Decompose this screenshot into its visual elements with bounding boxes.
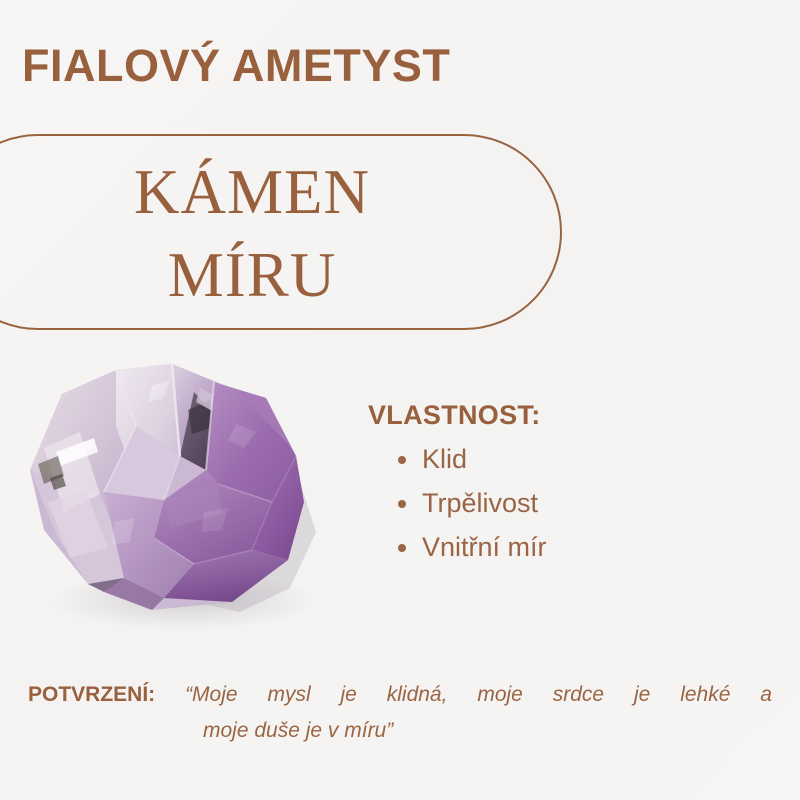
page-title: FIALOVÝ AMETYST bbox=[22, 40, 450, 92]
list-item: Trpělivost bbox=[398, 481, 748, 525]
list-item: Vnitřní mír bbox=[398, 525, 748, 569]
properties-list: Klid Trpělivost Vnitřní mír bbox=[368, 437, 748, 569]
amethyst-crystal-image bbox=[4, 352, 340, 638]
amethyst-crystal-icon bbox=[4, 352, 340, 638]
properties-section: VLASTNOST: Klid Trpělivost Vnitřní mír bbox=[368, 400, 748, 569]
stone-name-badge: KÁMEN MÍRU bbox=[0, 134, 562, 330]
affirmation-line-2: moje duše je v míru” bbox=[28, 713, 772, 749]
properties-heading: VLASTNOST: bbox=[368, 400, 748, 431]
affirmation-label: POTVRZENÍ: bbox=[28, 683, 155, 706]
poster-canvas: FIALOVÝ AMETYST KÁMEN MÍRU bbox=[0, 0, 800, 800]
list-item: Klid bbox=[398, 437, 748, 481]
affirmation-section: POTVRZENÍ: “Moje mysl je klidná, moje sr… bbox=[28, 676, 772, 749]
affirmation-line-1-row: POTVRZENÍ: “Moje mysl je klidná, moje sr… bbox=[28, 676, 772, 713]
badge-line-1: KÁMEN bbox=[134, 151, 370, 234]
badge-line-2: MÍRU bbox=[168, 234, 337, 317]
affirmation-line-1: “Moje mysl je klidná, moje srdce je lehk… bbox=[185, 683, 772, 706]
stone-name-badge-text: KÁMEN MÍRU bbox=[2, 136, 502, 332]
